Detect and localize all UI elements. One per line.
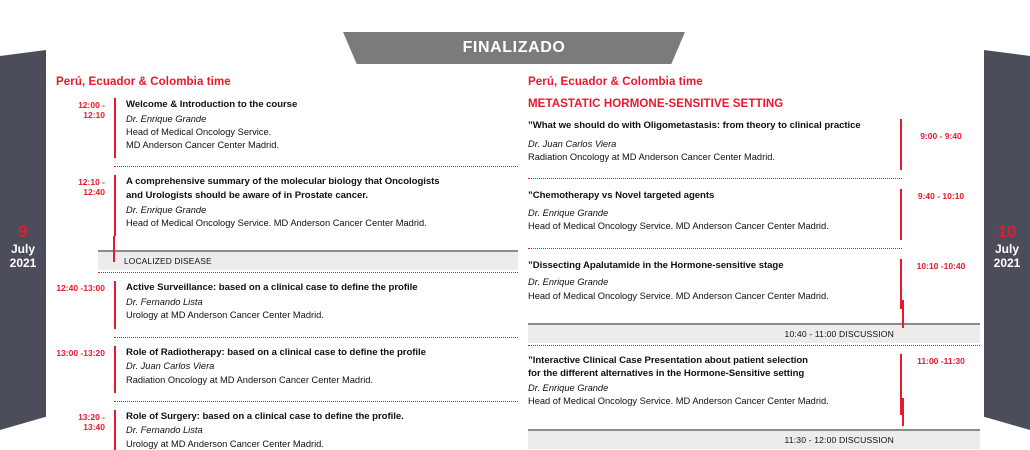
session-speaker: Dr. Juan Carlos Viera (126, 360, 518, 373)
date-tab-day1-year: 2021 (0, 256, 46, 270)
session-time: 12:10 - 12:40 (56, 175, 114, 236)
session-affiliation: MD Anderson Cancer Center Madrid. (126, 139, 518, 152)
date-tab-day2-year: 2021 (984, 256, 1030, 270)
session-title: Active Surveillance: based on a clinical… (126, 281, 518, 295)
session-title: ”Chemotherapy vs Novel targeted agents (528, 189, 891, 203)
session-affiliation: Head of Medical Oncology Service. MD And… (126, 217, 518, 230)
date-tab-day2-inner: 10 July 2021 (984, 222, 1030, 270)
session-title: ”Dissecting Apalutamide in the Hormone-s… (528, 259, 891, 273)
session-body: ”Dissecting Apalutamide in the Hormone-s… (528, 259, 900, 309)
date-tab-day2-day: 10 (984, 222, 1030, 242)
session-affiliation: Head of Medical Oncology Service. MD And… (528, 220, 891, 233)
session-body: Active Surveillance: based on a clinical… (116, 281, 518, 328)
status-banner: FINALIZADO (343, 32, 685, 64)
session-affiliation: Urology at MD Anderson Cancer Center Mad… (126, 438, 518, 450)
session-title: Welcome & Introduction to the course (126, 98, 518, 112)
day1-session-row: 12:40 -13:00 Active Surveillance: based … (56, 273, 518, 336)
session-time: 9:00 - 9:40 (902, 119, 980, 170)
session-time: 9:40 - 10:10 (902, 189, 980, 239)
day1-column: Perú, Ecuador & Colombia time 12:00 - 12… (56, 76, 518, 450)
session-time: 12:00 - 12:10 (56, 98, 114, 158)
session-title: for the different alternatives in the Ho… (528, 367, 891, 381)
day1-session-row: 13:20 - 13:40 Role of Surgery: based on … (56, 402, 518, 450)
day1-session-row: 12:00 - 12:10 Welcome & Introduction to … (56, 98, 518, 166)
day2-session-row: ”Interactive Clinical Case Presentation … (528, 346, 980, 423)
day2-session-row: ”What we should do with Oligometastasis:… (528, 119, 980, 178)
session-body: Welcome & Introduction to the course Dr.… (116, 98, 518, 158)
session-speaker: Dr. Enrique Grande (126, 113, 518, 126)
session-speaker: Dr. Fernando Lista (126, 424, 518, 437)
day2-session-row: ”Chemotherapy vs Novel targeted agents D… (528, 179, 980, 247)
session-body: Role of Radiotherapy: based on a clinica… (116, 346, 518, 393)
session-speaker: Dr. Enrique Grande (126, 204, 518, 217)
session-speaker: Dr. Enrique Grande (528, 276, 891, 289)
agenda-page: 9 July 2021 10 July 2021 FINALIZADO Perú… (0, 0, 1030, 450)
session-time: 13:20 - 13:40 (56, 410, 114, 450)
date-tab-day1: 9 July 2021 (0, 50, 46, 430)
session-speaker: Dr. Juan Carlos Viera (528, 138, 891, 151)
session-speaker: Dr. Fernando Lista (126, 296, 518, 309)
discussion-band-2: 11:30 - 12:00 DISCUSSION (528, 429, 980, 449)
date-tab-day2-month: July (984, 242, 1030, 256)
session-affiliation: Head of Medical Oncology Service. MD And… (528, 290, 891, 303)
day2-session-row: ”Dissecting Apalutamide in the Hormone-s… (528, 249, 980, 317)
timeline-rail-overlay (902, 398, 904, 426)
discussion-band-1: 10:40 - 11:00 DISCUSSION (528, 323, 980, 343)
date-tab-day1-inner: 9 July 2021 (0, 222, 46, 270)
date-tab-day1-month: July (0, 242, 46, 256)
day1-timezone-heading: Perú, Ecuador & Colombia time (56, 76, 518, 88)
session-time: 12:40 -13:00 (56, 281, 114, 328)
session-body: ”Interactive Clinical Case Presentation … (528, 354, 900, 415)
section-band-label: LOCALIZED DISEASE (124, 256, 212, 266)
session-body: ”What we should do with Oligometastasis:… (528, 119, 900, 170)
section-band-localized-disease: LOCALIZED DISEASE (98, 250, 518, 270)
session-title: and Urologists should be aware of in Pro… (126, 189, 518, 203)
session-time: 10:10 -10:40 (902, 259, 980, 309)
session-title: Role of Radiotherapy: based on a clinica… (126, 346, 518, 360)
discussion-band-label: 10:40 - 11:00 DISCUSSION (785, 329, 894, 339)
day2-timezone-heading: Perú, Ecuador & Colombia time (528, 76, 980, 88)
day1-session-row: 13:00 -13:20 Role of Radiotherapy: based… (56, 338, 518, 401)
session-affiliation: Head of Medical Oncology Service. MD And… (528, 395, 891, 408)
session-body: Role of Surgery: based on a clinical cas… (116, 410, 518, 450)
discussion-band-label: 11:30 - 12:00 DISCUSSION (785, 435, 894, 445)
timeline-rail-overlay (113, 236, 115, 262)
session-title: Role of Surgery: based on a clinical cas… (126, 410, 518, 424)
session-title: ”What we should do with Oligometastasis:… (528, 119, 891, 133)
session-body: A comprehensive summary of the molecular… (116, 175, 518, 236)
timeline-rail-overlay (902, 300, 904, 328)
session-time: 11:00 -11:30 (902, 354, 980, 415)
day2-section-heading: METASTATIC HORMONE-SENSITIVE SETTING (528, 98, 980, 110)
day2-column: Perú, Ecuador & Colombia time METASTATIC… (528, 76, 980, 450)
session-affiliation: Head of Medical Oncology Service. (126, 126, 518, 139)
session-body: ”Chemotherapy vs Novel targeted agents D… (528, 189, 900, 239)
session-affiliation: Urology at MD Anderson Cancer Center Mad… (126, 309, 518, 322)
day1-session-row: 12:10 - 12:40 A comprehensive summary of… (56, 167, 518, 244)
session-time: 13:00 -13:20 (56, 346, 114, 393)
session-speaker: Dr. Enrique Grande (528, 382, 891, 395)
session-title: A comprehensive summary of the molecular… (126, 175, 518, 189)
session-affiliation: Radiation Oncology at MD Anderson Cancer… (126, 374, 518, 387)
date-tab-day1-day: 9 (0, 222, 46, 242)
session-speaker: Dr. Enrique Grande (528, 207, 891, 220)
session-title: ”Interactive Clinical Case Presentation … (528, 354, 891, 368)
date-tab-day2: 10 July 2021 (984, 50, 1030, 430)
status-banner-label: FINALIZADO (463, 39, 566, 57)
session-affiliation: Radiation Oncology at MD Anderson Cancer… (528, 151, 891, 164)
